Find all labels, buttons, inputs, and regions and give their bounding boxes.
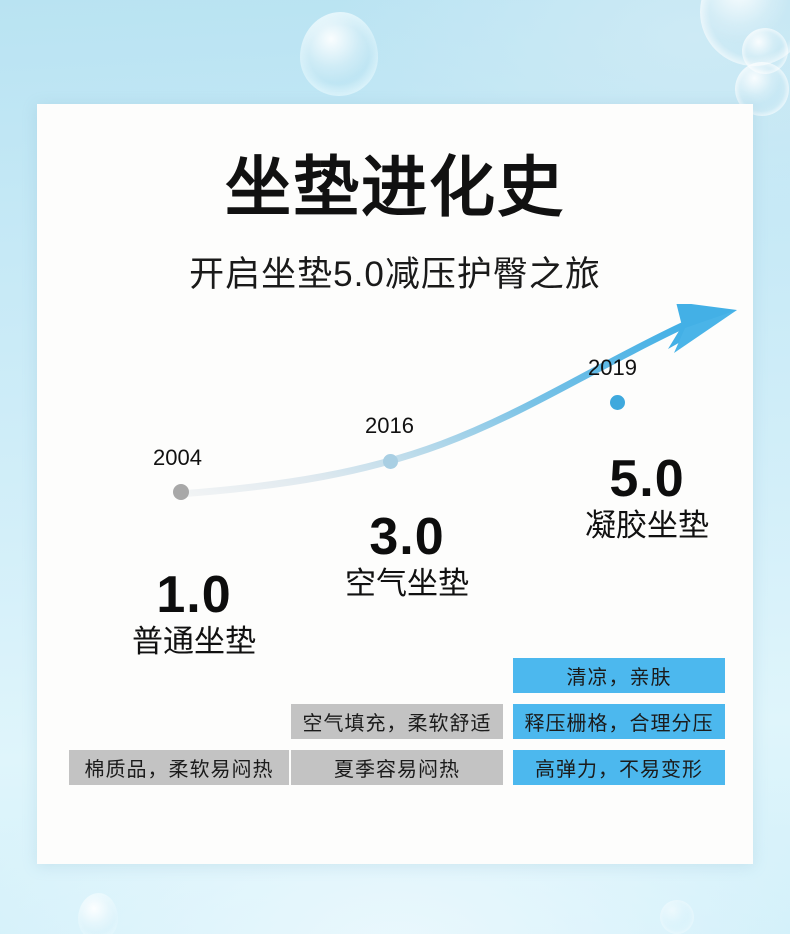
evolution-timeline-chart: 2004 2016 2019 1.0 普通坐垫 3.0 空气坐垫 5.0 凝胶坐… [37,104,753,864]
feature-tag-gen3-airfill: 空气填充，柔软舒适 [291,704,503,739]
water-drop-icon [300,12,378,96]
timeline-dot-2004 [173,484,189,500]
timeline-year-2019: 2019 [588,355,637,381]
timeline-year-2004: 2004 [153,445,202,471]
water-drop-icon-bottom [78,893,118,934]
milestone-5-0-product: 凝胶坐垫 [552,507,742,544]
milestone-3-0-product: 空气坐垫 [312,565,502,602]
feature-tag-gen5-pressure: 释压栅格，合理分压 [513,704,725,739]
bubble-icon-bottom-right [660,900,694,934]
timeline-dot-2016 [383,454,398,469]
feature-tag-gen5-cooling: 清凉，亲肤 [513,658,725,693]
feature-tag-gen5-elastic: 高弹力，不易变形 [513,750,725,785]
milestone-5-0: 5.0 凝胶坐垫 [552,452,742,544]
feature-tag-gen1-cotton: 棉质品，柔软易闷热 [69,750,289,785]
milestone-1-0: 1.0 普通坐垫 [99,568,289,660]
content-card: 坐垫进化史 开启坐垫5.0减压护臀之旅 2004 2016 201 [37,104,753,864]
milestone-1-0-version: 1.0 [99,568,289,623]
milestone-3-0-version: 3.0 [312,510,502,565]
milestone-1-0-product: 普通坐垫 [99,623,289,660]
feature-tag-gen3-summer: 夏季容易闷热 [291,750,503,785]
timeline-dot-2019 [610,395,625,410]
timeline-year-2016: 2016 [365,413,414,439]
milestone-3-0: 3.0 空气坐垫 [312,510,502,602]
milestone-5-0-version: 5.0 [552,452,742,507]
